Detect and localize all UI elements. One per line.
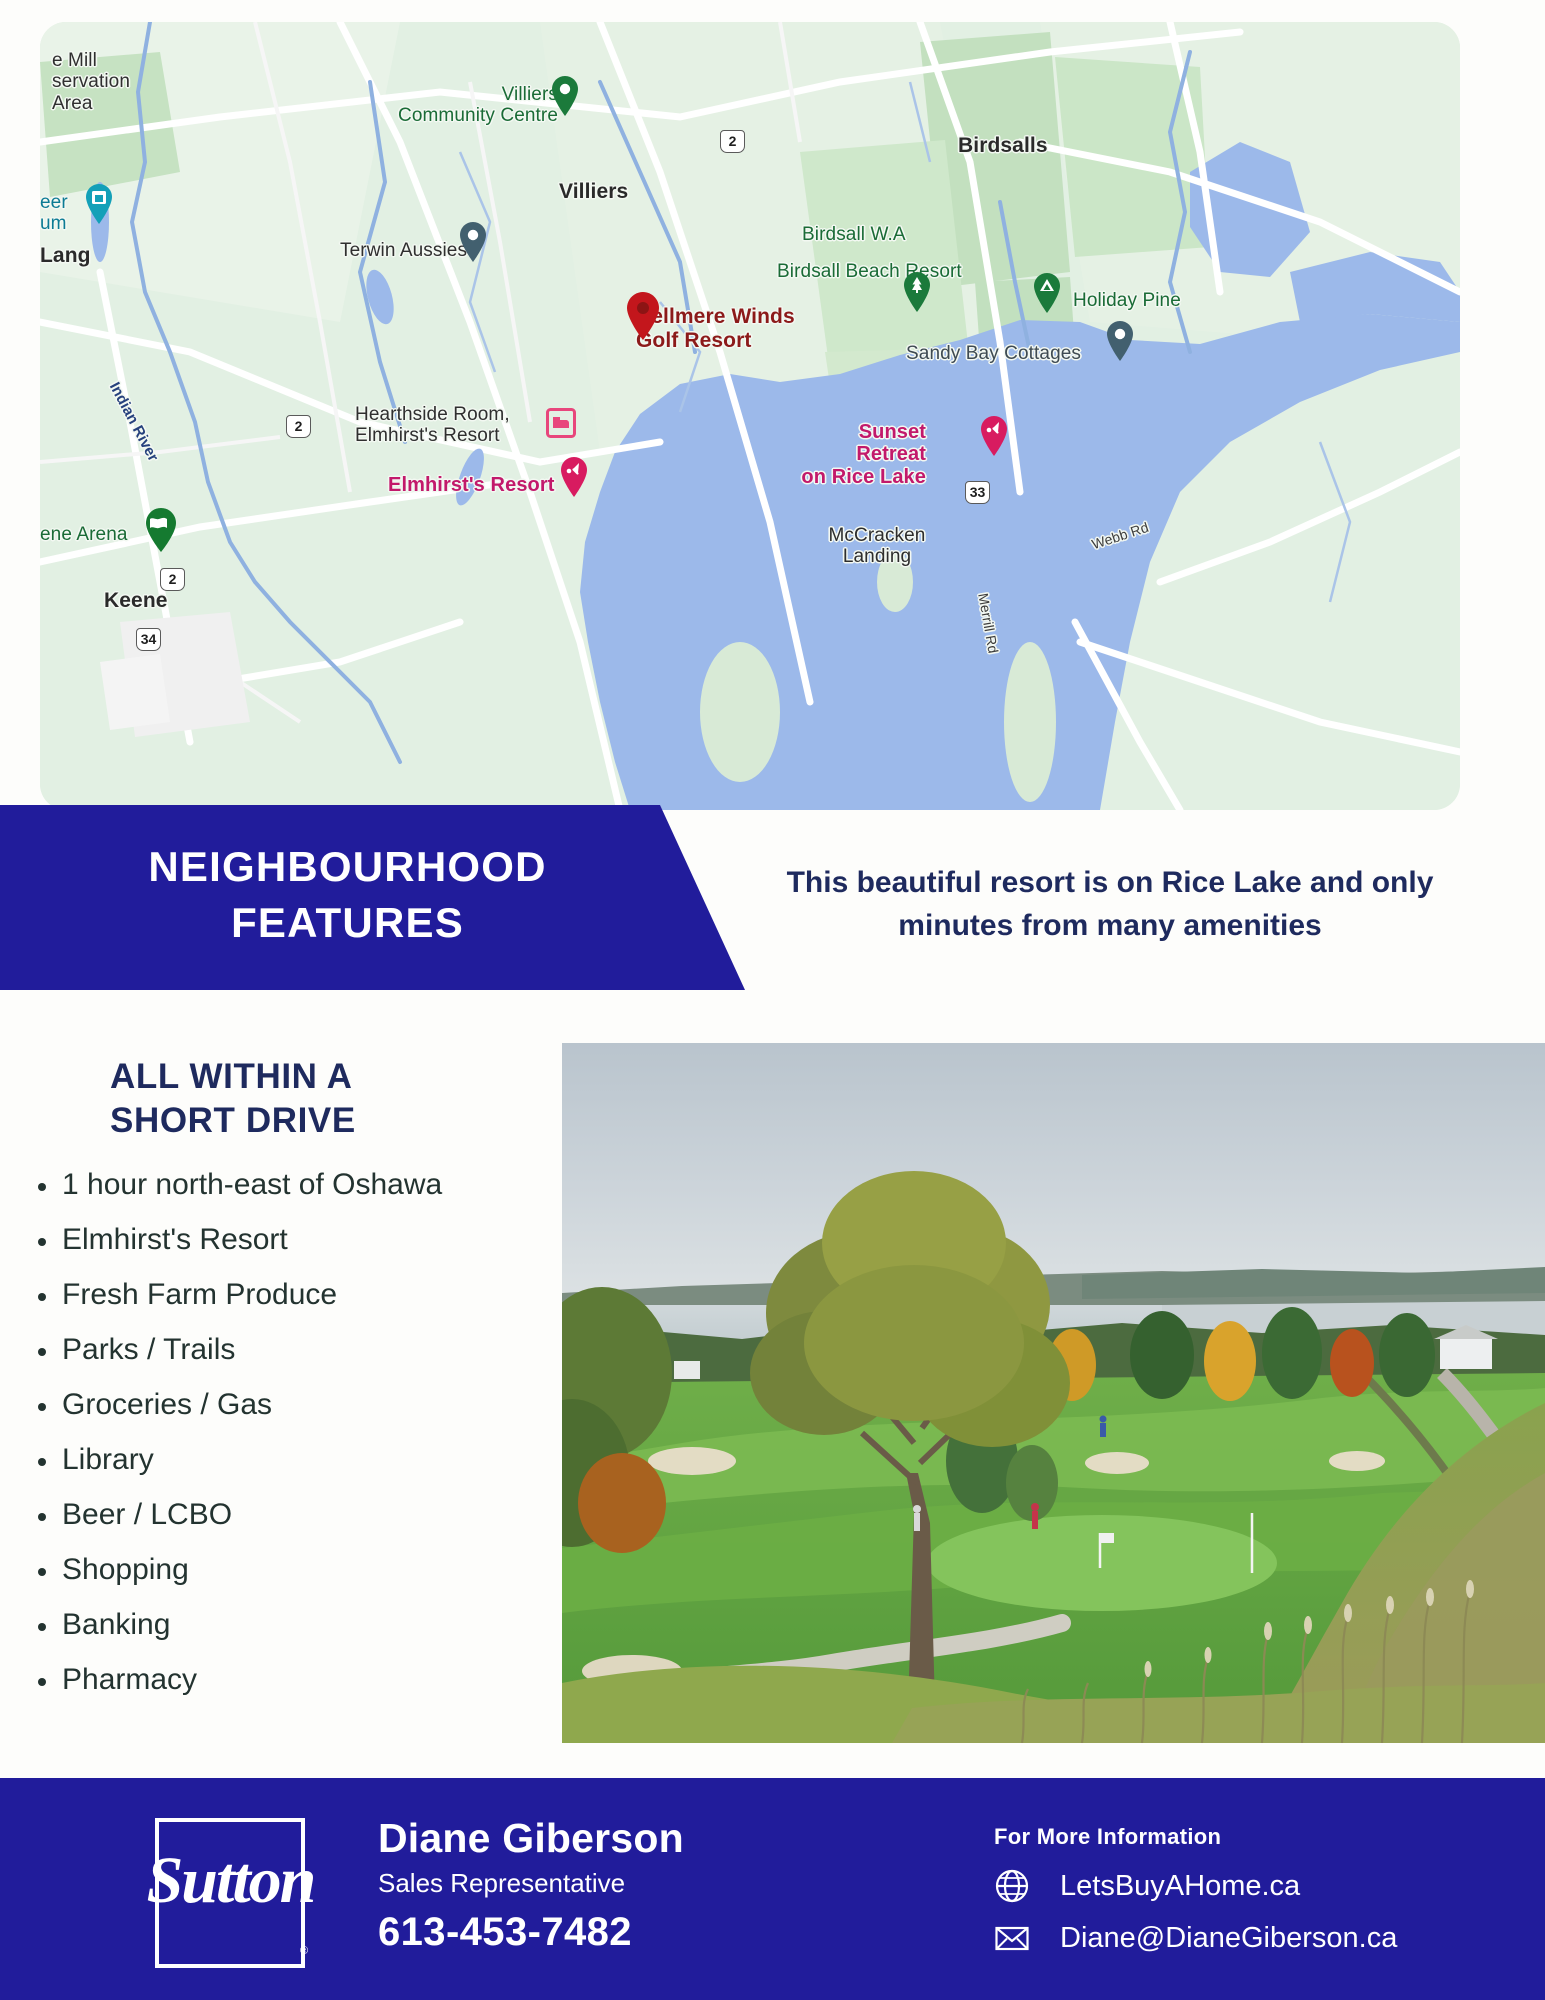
- website-text[interactable]: LetsBuyAHome.ca: [1060, 1870, 1300, 1903]
- map-pin-holiday-pine[interactable]: [1030, 271, 1064, 315]
- map-label-elmhirsts-resort: Elmhirst's Resort: [388, 474, 555, 496]
- map-pin-villiers-community-centre[interactable]: [548, 74, 582, 118]
- email-row[interactable]: Diane@DianeGiberson.ca: [994, 1920, 1397, 1956]
- list-item: Groceries / Gas: [26, 1390, 566, 1420]
- map-pin-sandy-bay-cottages[interactable]: [1103, 319, 1137, 363]
- map-shield-route-2-keene: 2: [160, 568, 185, 591]
- map-shield-route-2-north: 2: [720, 130, 745, 153]
- map-pin-birdsall-beach-resort[interactable]: [900, 270, 934, 314]
- map-shield-route-34: 34: [136, 628, 161, 651]
- map-label-sandy-bay-cottages: Sandy Bay Cottages: [906, 343, 1081, 364]
- sutton-logo-wordmark: Sutton: [108, 1848, 353, 1914]
- more-info-label: For More Information: [994, 1824, 1221, 1850]
- map-label-terwin-aussies: Terwin Aussies: [340, 240, 467, 261]
- golf-course-photo: [562, 1043, 1545, 1743]
- sutton-trademark-icon: ®: [300, 1945, 308, 1957]
- map-pin-elmhirsts-resort[interactable]: [557, 455, 591, 499]
- map-shield-route-2-mid: 2: [286, 415, 311, 438]
- agent-name: Diane Giberson: [378, 1815, 684, 1862]
- golf-course-illustration: [562, 1043, 1545, 1743]
- map-shield-route-33: 33: [965, 481, 990, 504]
- map-pin-keene-arena[interactable]: [142, 506, 180, 554]
- map-label-mccracken-landing: McCracken Landing: [782, 525, 972, 568]
- list-item: Pharmacy: [26, 1665, 566, 1695]
- list-item: Library: [26, 1445, 566, 1475]
- list-item: Elmhirst's Resort: [26, 1225, 566, 1255]
- map-pin-pioneer-museum[interactable]: [82, 182, 116, 226]
- map-label-pioneer-museum: eer um: [40, 192, 68, 235]
- flyer-page: e Mill servation Area Villiers Community…: [0, 0, 1545, 2000]
- map-label-keene: Keene: [104, 589, 168, 613]
- envelope-icon: [994, 1920, 1030, 1956]
- map-base-graphics: [40, 22, 1460, 810]
- list-item: Shopping: [26, 1555, 566, 1585]
- map-label-lang: Lang: [40, 244, 91, 268]
- map-label-birdsall-wa: Birdsall W.A: [802, 224, 906, 245]
- map-pin-terwin-aussies[interactable]: [456, 220, 490, 264]
- list-item: Banking: [26, 1610, 566, 1640]
- features-list: 1 hour north-east of Oshawa Elmhirst's R…: [26, 1170, 566, 1720]
- neighbourhood-map[interactable]: e Mill servation Area Villiers Community…: [40, 22, 1460, 810]
- banner-title: NEIGHBOURHOOD FEATURES: [148, 839, 596, 956]
- banner-subtitle: This beautiful resort is on Rice Lake an…: [760, 862, 1460, 947]
- map-label-keene-arena: ene Arena: [40, 524, 128, 545]
- email-text[interactable]: Diane@DianeGiberson.ca: [1060, 1922, 1397, 1955]
- features-heading: ALL WITHIN A SHORT DRIVE: [110, 1055, 530, 1143]
- map-label-sunset-retreat-on-rice-lake: Sunset Retreat on Rice Lake: [788, 421, 926, 488]
- map-label-hearthside-room-elmhirsts-resort: Hearthside Room, Elmhirst's Resort: [355, 404, 510, 447]
- list-item: Fresh Farm Produce: [26, 1280, 566, 1310]
- list-item: Beer / LCBO: [26, 1500, 566, 1530]
- list-item: 1 hour north-east of Oshawa: [26, 1170, 566, 1200]
- map-label-villiers: Villiers: [559, 180, 628, 204]
- map-pin-bellmere-winds-golf-resort[interactable]: [622, 290, 664, 342]
- map-label-holiday-pine: Holiday Pine: [1073, 290, 1181, 311]
- list-item: Parks / Trails: [26, 1335, 566, 1365]
- globe-icon: [994, 1868, 1030, 1904]
- map-pin-sunset-retreat[interactable]: [977, 414, 1011, 458]
- agent-phone[interactable]: 613-453-7482: [378, 1910, 632, 1955]
- map-canvas: [40, 22, 1460, 810]
- neighbourhood-features-banner: NEIGHBOURHOOD FEATURES: [0, 805, 745, 990]
- map-label-lake-mill-conservation-area: e Mill servation Area: [52, 50, 130, 114]
- map-pin-hearthside-room[interactable]: [546, 408, 576, 438]
- map-label-birdsalls: Birdsalls: [958, 134, 1048, 158]
- map-label-villiers-community-centre: Villiers Community Centre: [358, 84, 558, 127]
- agent-role: Sales Representative: [378, 1868, 625, 1899]
- website-row[interactable]: LetsBuyAHome.ca: [994, 1868, 1300, 1904]
- map-label-birdsall-beach-resort: Birdsall Beach Resort: [777, 261, 962, 282]
